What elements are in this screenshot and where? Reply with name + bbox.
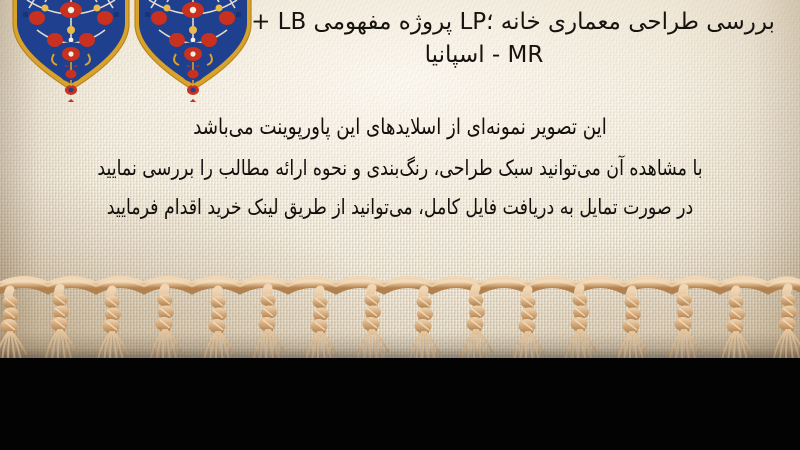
title-line-1: بررسی طراحی معماری خانه ؛LP پروژه مفهومی…	[250, 6, 776, 39]
body-line-3: در صورت تمایل به دریافت فایل کامل، می‌تو…	[49, 188, 752, 227]
slide-body-text: این تصویر نمونه‌ای از اسلایدهای این پاور…	[18, 108, 782, 226]
slide-canvas: بررسی طراحی معماری خانه ؛LP پروژه مفهومی…	[0, 0, 800, 450]
title-line-2: MR - اسپانیا	[250, 39, 776, 72]
black-bottom-band	[0, 358, 800, 450]
body-line-1: این تصویر نمونه‌ای از اسلایدهای این پاور…	[49, 108, 752, 149]
slide-title: بررسی طراحی معماری خانه ؛LP پروژه مفهومی…	[250, 6, 776, 71]
body-line-2: با مشاهده آن می‌توانید سبک طراحی، رنگ‌بن…	[49, 149, 752, 188]
